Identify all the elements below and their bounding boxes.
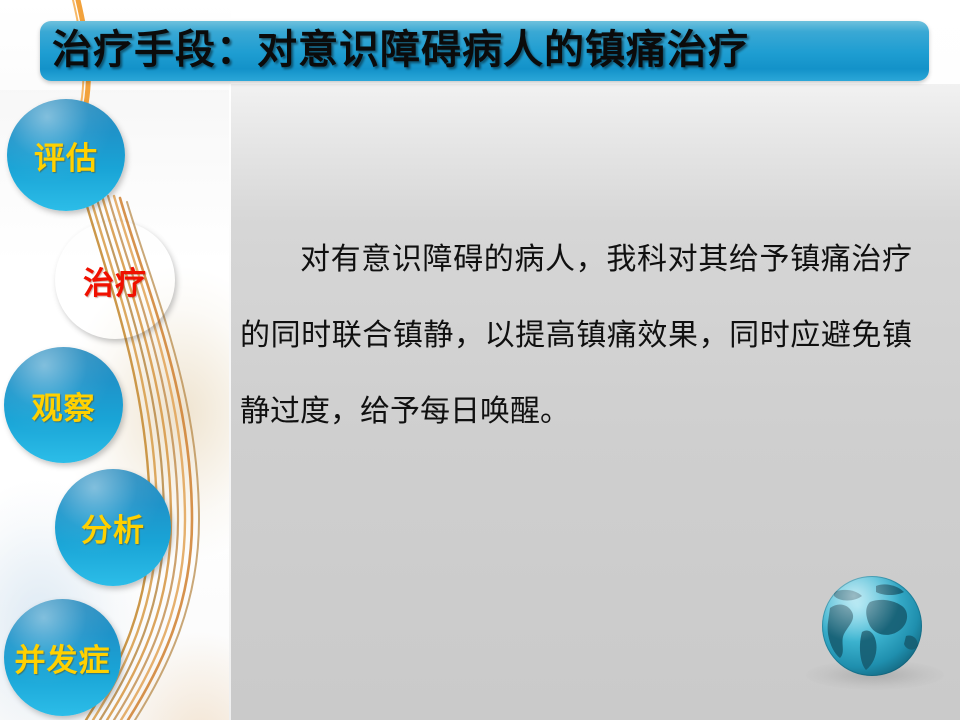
sidebar-item-analysis[interactable]: 分析 <box>55 469 171 586</box>
sidebar-item-label: 分析 <box>81 505 145 550</box>
sidebar-item-label: 评估 <box>34 133 98 178</box>
sidebar-item-assessment[interactable]: 评估 <box>7 99 125 211</box>
sidebar-item-label: 治疗 <box>83 258 147 303</box>
sidebar-item-observation[interactable]: 观察 <box>4 347 123 463</box>
sidebar-item-complications[interactable]: 并发症 <box>4 599 121 716</box>
page-title: 治疗手段：对意识障碍病人的镇痛治疗 <box>52 21 932 81</box>
globe-icon <box>818 572 926 680</box>
sidebar-item-treatment[interactable]: 治疗 <box>55 221 175 339</box>
content-panel-left-edge <box>229 84 231 720</box>
slide-canvas: 治疗手段：对意识障碍病人的镇痛治疗 评估 治疗 观察 分析 并发症 对有意识障碍… <box>0 0 960 720</box>
slide-body-paragraph: 对有意识障碍的病人，我科对其给予镇痛治疗的同时联合镇静，以提高镇痛效果，同时应避… <box>240 222 912 450</box>
sidebar-item-label: 并发症 <box>15 635 111 680</box>
sidebar-item-label: 观察 <box>32 383 96 428</box>
